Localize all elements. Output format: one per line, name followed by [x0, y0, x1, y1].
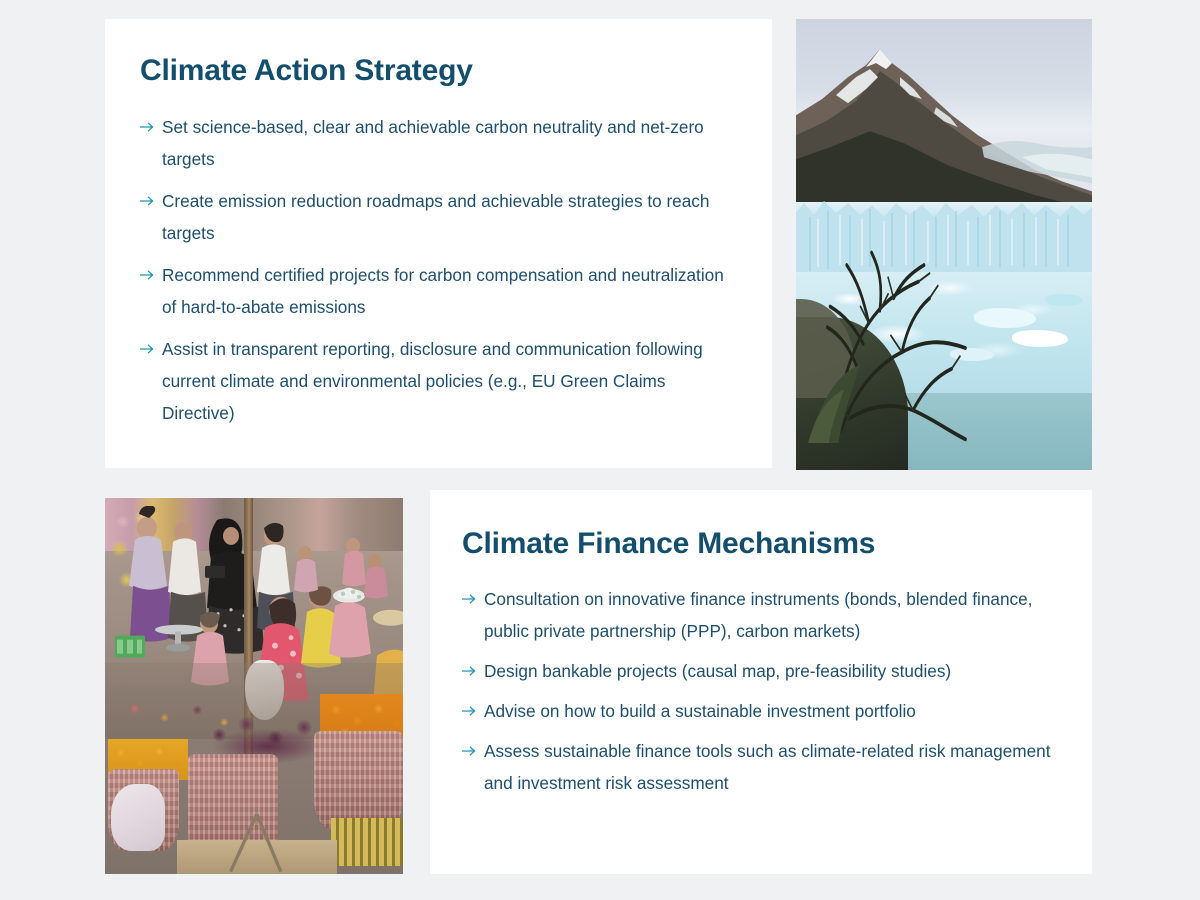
arrow-right-icon	[140, 185, 156, 217]
market-photo	[105, 498, 403, 874]
market-photo-canvas	[105, 498, 403, 874]
climate-action-strategy-card: Climate Action Strategy Set science-base…	[105, 19, 772, 468]
list-item-label: Recommend certified projects for carbon …	[162, 265, 724, 317]
arrow-right-icon	[462, 583, 478, 615]
arrow-right-icon	[462, 655, 478, 687]
list-item-label: Assist in transparent reporting, disclos…	[162, 339, 703, 423]
iceberg	[974, 308, 1036, 328]
list-item-label: Create emission reduction roadmaps and a…	[162, 191, 709, 243]
bare-shrub	[808, 236, 974, 443]
iceberg	[1012, 330, 1068, 347]
arrow-right-icon	[462, 695, 478, 727]
list-item: Set science-based, clear and achievable …	[140, 111, 732, 175]
list-item: Create emission reduction roadmaps and a…	[140, 185, 732, 249]
list-item: Advise on how to build a sustainable inv…	[462, 695, 1058, 727]
photo-tone-overlay	[105, 498, 403, 874]
list-item: Recommend certified projects for carbon …	[140, 259, 732, 323]
list-item-label: Advise on how to build a sustainable inv…	[484, 701, 916, 721]
iceberg	[1045, 294, 1083, 306]
page-title: Climate Action Strategy	[140, 53, 732, 89]
arrow-right-icon	[140, 111, 156, 143]
list-item-label: Set science-based, clear and achievable …	[162, 117, 704, 169]
strategy-bullet-list: Set science-based, clear and achievable …	[140, 111, 732, 429]
list-item-label: Consultation on innovative finance instr…	[484, 589, 1032, 641]
list-item: Assess sustainable finance tools such as…	[462, 735, 1058, 799]
list-item-label: Assess sustainable finance tools such as…	[484, 741, 1051, 793]
list-item: Assist in transparent reporting, disclos…	[140, 333, 732, 429]
page-title: Climate Finance Mechanisms	[462, 526, 1058, 562]
list-item: Design bankable projects (causal map, pr…	[462, 655, 1058, 687]
list-item: Consultation on innovative finance instr…	[462, 583, 1058, 647]
card-content: Climate Finance Mechanisms Consultation …	[430, 490, 1092, 799]
arrow-right-icon	[140, 333, 156, 365]
glacier-photo-canvas	[796, 19, 1092, 470]
climate-finance-mechanisms-card: Climate Finance Mechanisms Consultation …	[430, 490, 1092, 874]
arrow-right-icon	[140, 259, 156, 291]
glacier-photo	[796, 19, 1092, 470]
list-item-label: Design bankable projects (causal map, pr…	[484, 661, 951, 681]
finance-bullet-list: Consultation on innovative finance instr…	[462, 583, 1058, 799]
card-content: Climate Action Strategy Set science-base…	[105, 19, 772, 429]
slide-canvas: Climate Action Strategy Set science-base…	[0, 0, 1200, 900]
arrow-right-icon	[462, 735, 478, 767]
